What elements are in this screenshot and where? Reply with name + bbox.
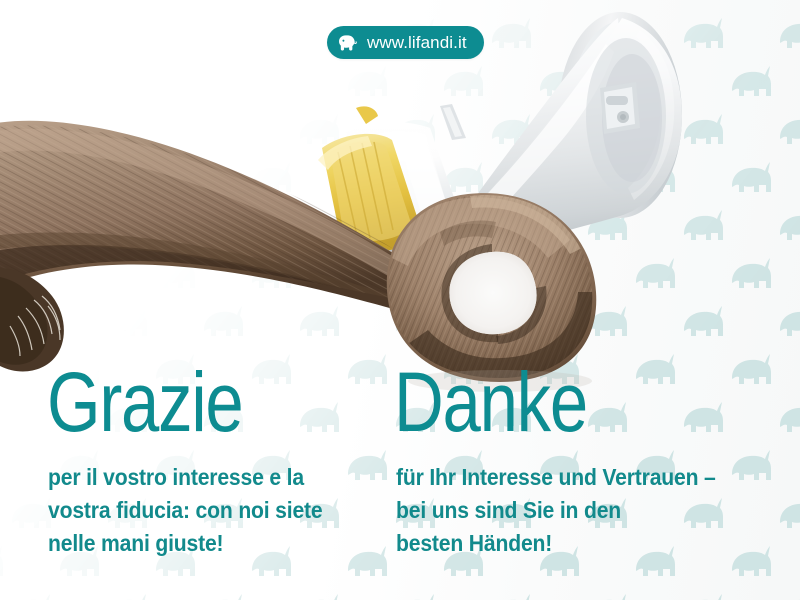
body-italian: per il vostro interesse e la vostra fidu…	[48, 461, 399, 560]
website-url: www.lifandi.it	[367, 34, 467, 51]
body-line: bei uns sind Sie in den	[396, 494, 783, 527]
body-line: für Ihr Interesse und Vertrauen –	[396, 461, 783, 494]
poster-canvas: www.lifandi.it Grazie Danke per il vostr…	[0, 0, 800, 600]
body-line: per il vostro interesse e la	[48, 461, 399, 494]
website-badge[interactable]: www.lifandi.it	[327, 26, 484, 59]
body-german: für Ihr Interesse und Vertrauen – bei un…	[396, 461, 783, 560]
body-line: nelle mani giuste!	[48, 527, 399, 560]
body-line: vostra fiducia: con noi siete	[48, 494, 399, 527]
headline-german: Danke	[394, 360, 587, 444]
headline-italian: Grazie	[47, 360, 242, 444]
elephant-icon	[338, 34, 359, 52]
body-line: besten Händen!	[396, 527, 783, 560]
elephant-trunk-upper	[0, 100, 440, 371]
